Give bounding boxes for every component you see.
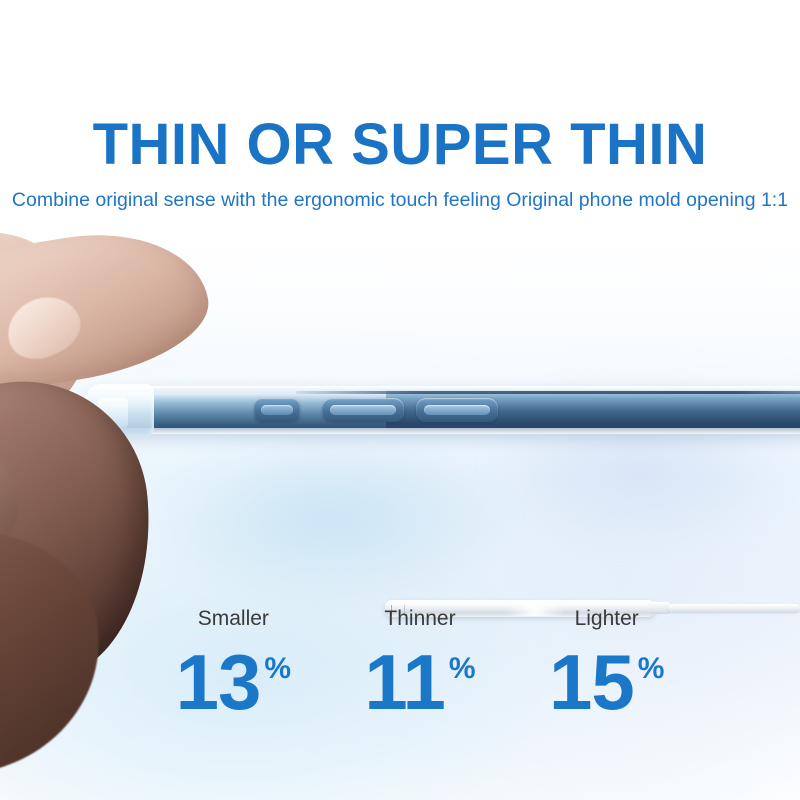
stat-number: 11	[364, 647, 444, 717]
index-finger	[0, 232, 217, 405]
stat-value: 15 %	[549, 647, 664, 717]
page-title: THIN OR SUPER THIN	[0, 116, 800, 174]
stat-unit: %	[638, 655, 665, 682]
stat-unit: %	[449, 655, 476, 682]
headline-block: THIN OR SUPER THIN Combine original sens…	[0, 0, 800, 235]
stats-row: Smaller 13 % Thinner 11 % Lighter 15 %	[140, 608, 700, 768]
stat-thinner: Thinner 11 %	[327, 608, 514, 768]
index-fingernail	[0, 286, 89, 368]
stat-unit: %	[264, 655, 291, 682]
page-subtitle: Combine original sense with the ergonomi…	[0, 189, 800, 212]
stat-lighter: Lighter 15 %	[513, 608, 700, 768]
volume-down-button-key	[424, 405, 490, 415]
stat-label: Lighter	[513, 608, 700, 629]
stat-value: 11 %	[364, 647, 475, 717]
product-banner: THIN OR SUPER THIN Combine original sens…	[0, 0, 800, 800]
stat-label: Smaller	[140, 608, 327, 629]
stat-smaller: Smaller 13 %	[140, 608, 327, 768]
stat-number: 13	[176, 647, 261, 717]
stat-number: 15	[549, 647, 634, 717]
stat-label: Thinner	[327, 608, 514, 629]
volume-down-button	[416, 398, 498, 422]
stat-value: 13 %	[176, 647, 291, 717]
